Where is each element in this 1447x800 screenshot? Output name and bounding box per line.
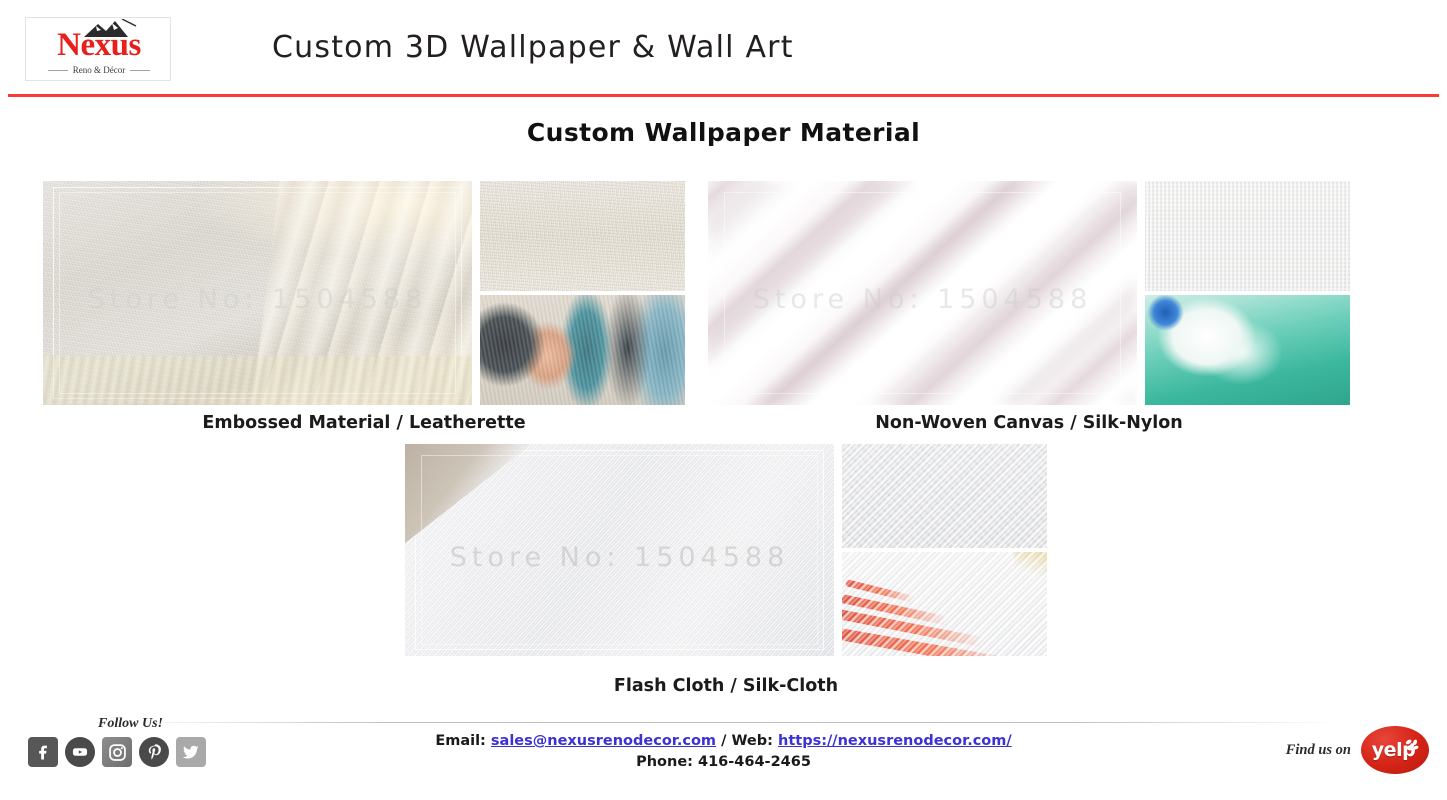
panel-caption-flashcloth: Flash Cloth / Silk-Cloth (405, 676, 1047, 696)
brand-logo[interactable]: Nexus Reno & Décor (25, 17, 171, 81)
panel-thumbnails (842, 444, 1047, 656)
panel-images: Store No: 1504588 (708, 181, 1350, 405)
material-panel-embossed: Store No: 1504588 Embossed Material / Le… (43, 181, 685, 433)
panel-images: Store No: 1504588 (43, 181, 685, 405)
logo-rule-left (48, 70, 68, 71)
image-watermark: Store No: 1504588 (405, 542, 834, 573)
find-us-on-label: Find us on (1286, 742, 1351, 759)
logo-wordmark: Nexus (26, 29, 172, 62)
material-thumb-dot-weave[interactable] (842, 444, 1047, 548)
roll-base-detail (43, 356, 472, 405)
gold-corner-detail (1014, 552, 1047, 577)
page-title: Custom 3D Wallpaper & Wall Art (272, 30, 794, 65)
material-image-flash-cloth[interactable]: Store No: 1504588 (405, 444, 834, 656)
material-image-embossed-roll[interactable]: Store No: 1504588 (43, 181, 472, 405)
contact-info: Email: sales@nexusrenodecor.com / Web: h… (0, 731, 1447, 773)
section-title: Custom Wallpaper Material (0, 118, 1447, 147)
yelp-block: Find us on yelp (1286, 726, 1429, 774)
logo-tagline: Reno & Décor (73, 65, 125, 75)
yelp-logo[interactable]: yelp (1361, 726, 1429, 774)
material-panel-nonwoven: Store No: 1504588 Non-Woven Canvas / Sil… (708, 181, 1350, 433)
web-label: Web: (731, 733, 773, 749)
panel-images: Store No: 1504588 (405, 444, 1047, 668)
material-image-silk-drape[interactable]: Store No: 1504588 (708, 181, 1137, 405)
email-label: Email: (435, 733, 486, 749)
phone-number: Phone: 416-464-2465 (0, 752, 1447, 773)
material-thumb-floral-teal[interactable] (1145, 295, 1350, 405)
follow-us-label: Follow Us! (98, 716, 206, 732)
panel-caption-embossed: Embossed Material / Leatherette (43, 413, 685, 433)
page-header: Nexus Reno & Décor Custom 3D Wallpaper &… (0, 0, 1447, 96)
material-panel-flashcloth: Store No: 1504588 Flash Cloth / Silk-Clo… (405, 444, 1047, 696)
contact-separator: / (716, 733, 731, 749)
panel-thumbnails (480, 181, 685, 405)
logo-tagline-row: Reno & Décor (26, 65, 172, 75)
header-divider (8, 94, 1439, 97)
cloth-fold-detail (405, 444, 542, 550)
image-watermark: Store No: 1504588 (708, 284, 1137, 315)
material-thumb-nonwoven-mesh[interactable] (1145, 181, 1350, 291)
yelp-burst-icon (1403, 737, 1420, 754)
footer-divider (120, 722, 1340, 723)
panel-caption-nonwoven: Non-Woven Canvas / Silk-Nylon (708, 413, 1350, 433)
material-thumb-printed-pattern[interactable] (480, 295, 685, 405)
material-thumb-red-streak[interactable] (842, 552, 1047, 656)
material-thumb-embossed-texture[interactable] (480, 181, 685, 291)
logo-rule-right (130, 70, 150, 71)
website-link[interactable]: https://nexusrenodecor.com/ (778, 733, 1012, 749)
panel-thumbnails (1145, 181, 1350, 405)
email-link[interactable]: sales@nexusrenodecor.com (491, 733, 716, 749)
